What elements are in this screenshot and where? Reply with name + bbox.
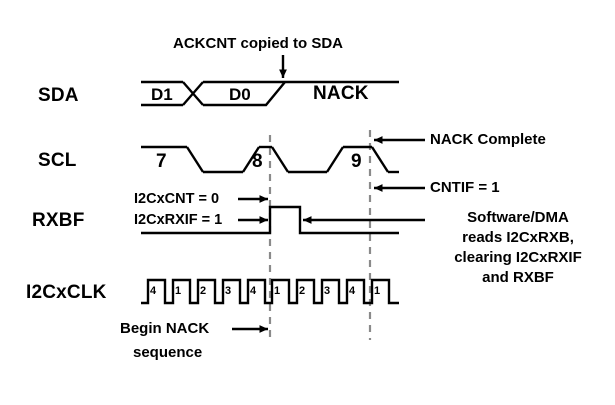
sda-segment-d0: D0 [229, 86, 251, 103]
scl-pulse-label-7: 7 [156, 152, 167, 171]
scl-pulse-label-9: 9 [351, 152, 362, 171]
software-dma-line-3: clearing I2CxRXIF [424, 248, 612, 268]
ackcnt-annotation: ACKCNT copied to SDA [173, 36, 343, 51]
row-label-i2cxclk: I2CxCLK [26, 283, 107, 302]
i2cxcnt-label: I2CxCNT = 0 [134, 192, 219, 207]
clk-pulse-label-1: 1 [175, 286, 181, 297]
sda-segment-d1: D1 [151, 86, 173, 103]
row-label-scl: SCL [38, 151, 77, 170]
i2cxrxif-label: I2CxRXIF = 1 [134, 213, 222, 228]
clk-pulse-label-2: 2 [200, 286, 206, 297]
clk-pulse-label-0: 4 [150, 286, 156, 297]
sda-segment-nack: NACK [313, 84, 369, 103]
begin-nack-line-1: Begin NACK [120, 321, 209, 336]
timing-diagram: SDA SCL RXBF I2CxCLK ACKCNT copied to SD… [0, 0, 615, 405]
software-dma-line-2: reads I2CxRXB, [424, 228, 612, 248]
waveform-canvas [0, 0, 615, 405]
scl-pulse-label-8: 8 [252, 152, 263, 171]
nack-complete-label: NACK Complete [430, 132, 546, 147]
cntif-label: CNTIF = 1 [430, 180, 500, 195]
clk-pulse-label-8: 4 [349, 286, 355, 297]
software-dma-line-4: and RXBF [424, 268, 612, 288]
clk-pulse-label-4: 4 [250, 286, 256, 297]
begin-nack-line-2: sequence [133, 345, 202, 360]
clk-pulse-label-7: 3 [324, 286, 330, 297]
row-label-rxbf: RXBF [32, 211, 85, 230]
software-dma-line-1: Software/DMA [424, 208, 612, 228]
software-dma-annotation: Software/DMA reads I2CxRXB, clearing I2C… [424, 208, 612, 288]
clk-pulse-label-9: 1 [374, 286, 380, 297]
clk-pulse-label-3: 3 [225, 286, 231, 297]
clk-pulse-label-6: 2 [299, 286, 305, 297]
clk-pulse-label-5: 1 [274, 286, 280, 297]
row-label-sda: SDA [38, 86, 79, 105]
